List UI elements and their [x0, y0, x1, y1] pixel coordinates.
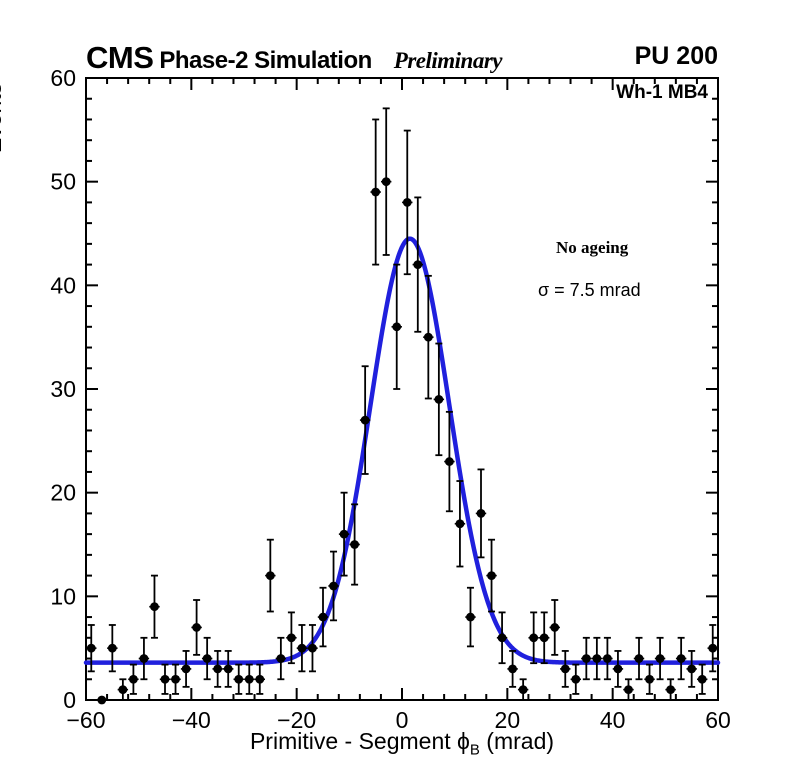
marker-dot: [213, 665, 222, 674]
data-point: [613, 651, 623, 687]
data-point: [476, 469, 486, 557]
marker-dot: [340, 530, 349, 539]
marker-dot: [487, 571, 496, 580]
marker-dot: [97, 696, 106, 705]
data-point: [160, 665, 170, 694]
marker-dot: [276, 654, 285, 663]
data-point: [507, 651, 517, 687]
marker-dot: [203, 654, 212, 663]
marker-dot: [118, 685, 127, 694]
marker-dot: [445, 457, 454, 466]
marker-dot: [287, 633, 296, 642]
y-tick-label: 10: [50, 583, 76, 609]
data-point: [581, 638, 591, 679]
marker-dot: [129, 675, 138, 684]
data-point: [497, 612, 507, 663]
data-point: [128, 665, 138, 694]
marker-dot: [424, 333, 433, 342]
data-point: [181, 651, 191, 687]
marker-dot: [456, 519, 465, 528]
x-tick-label: −40: [172, 707, 211, 733]
marker-dot: [529, 633, 538, 642]
data-point: [592, 638, 602, 679]
data-point: [465, 588, 475, 647]
marker-dot: [582, 654, 591, 663]
data-point: [297, 625, 307, 671]
marker-dot: [308, 644, 317, 653]
marker-dot: [182, 665, 191, 674]
data-point: [560, 651, 570, 687]
x-tick-label: 0: [396, 707, 409, 733]
data-point: [571, 665, 581, 694]
data-point: [528, 612, 538, 663]
plot-canvas: CMSPhase-2 SimulationPreliminary PU 200 …: [0, 0, 796, 772]
marker-dot: [171, 675, 180, 684]
data-point: [149, 576, 159, 638]
x-tick-label: 60: [705, 707, 731, 733]
data-point: [550, 600, 560, 655]
data-point: [381, 108, 391, 255]
axis-ticks: [86, 78, 718, 700]
plot-graphics: −60−40−2002040600102030405060: [0, 0, 796, 772]
marker-dot: [140, 654, 149, 663]
marker-dot: [434, 395, 443, 404]
marker-dot: [624, 685, 633, 694]
y-tick-label: 30: [50, 376, 76, 402]
marker-dot: [392, 322, 401, 331]
marker-dot: [592, 654, 601, 663]
gaussian-fit-line: [86, 239, 718, 663]
data-point: [539, 612, 549, 663]
data-point: [623, 679, 633, 700]
marker-dot: [540, 633, 549, 642]
marker-dot: [687, 665, 696, 674]
marker-dot: [108, 644, 117, 653]
data-points: [86, 108, 718, 704]
data-point: [602, 638, 612, 679]
marker-dot: [508, 665, 517, 674]
data-point: [686, 651, 696, 687]
frame-rect: [86, 78, 718, 700]
y-tick-label: 0: [63, 687, 76, 713]
y-tick-label: 20: [50, 480, 76, 506]
marker-dot: [298, 644, 307, 653]
marker-dot: [413, 260, 422, 269]
marker-dot: [656, 654, 665, 663]
data-point: [697, 665, 707, 694]
marker-dot: [466, 613, 475, 622]
plot-frame: [86, 78, 718, 700]
data-point: [276, 638, 286, 679]
data-point: [139, 638, 149, 679]
data-point: [212, 651, 222, 687]
marker-dot: [666, 685, 675, 694]
marker-dot: [708, 644, 717, 653]
y-tick-label: 60: [50, 65, 76, 91]
marker-dot: [361, 416, 370, 425]
data-point: [234, 665, 244, 694]
marker-dot: [371, 188, 380, 197]
marker-dot: [255, 675, 264, 684]
data-point: [255, 665, 265, 694]
data-point: [655, 638, 665, 679]
data-point: [223, 651, 233, 687]
marker-dot: [234, 675, 243, 684]
marker-dot: [477, 509, 486, 518]
data-point: [97, 696, 107, 705]
data-point: [191, 600, 201, 655]
marker-dot: [571, 675, 580, 684]
marker-dot: [150, 602, 159, 611]
data-point: [244, 665, 254, 694]
x-tick-label: 20: [495, 707, 521, 733]
marker-dot: [635, 654, 644, 663]
data-point: [413, 197, 423, 331]
data-point: [402, 131, 412, 275]
x-tick-label: 40: [600, 707, 626, 733]
data-point: [118, 679, 128, 700]
data-point: [202, 638, 212, 679]
marker-dot: [245, 675, 254, 684]
marker-dot: [403, 198, 412, 207]
marker-dot: [550, 623, 559, 632]
marker-dot: [645, 675, 654, 684]
marker-dot: [329, 582, 338, 591]
marker-dot: [192, 623, 201, 632]
data-point: [318, 588, 328, 647]
y-tick-label: 40: [50, 272, 76, 298]
marker-dot: [614, 665, 623, 674]
marker-dot: [161, 675, 170, 684]
marker-dot: [698, 675, 707, 684]
marker-dot: [382, 177, 391, 186]
marker-dot: [224, 665, 233, 674]
marker-dot: [603, 654, 612, 663]
marker-dot: [561, 665, 570, 674]
marker-dot: [498, 633, 507, 642]
data-point: [644, 665, 654, 694]
marker-dot: [266, 571, 275, 580]
data-point: [265, 540, 275, 612]
fit-curve: [86, 239, 718, 663]
data-point: [518, 679, 528, 700]
marker-dot: [319, 613, 328, 622]
marker-dot: [519, 685, 528, 694]
data-point: [634, 638, 644, 679]
marker-dot: [350, 540, 359, 549]
data-point: [307, 625, 317, 671]
data-point: [665, 679, 675, 700]
axis-tick-labels: −60−40−2002040600102030405060: [50, 65, 730, 733]
data-point: [370, 119, 380, 264]
x-tick-label: −20: [277, 707, 316, 733]
y-tick-label: 50: [50, 169, 76, 195]
data-point: [676, 638, 686, 679]
marker-dot: [677, 654, 686, 663]
marker-dot: [87, 644, 96, 653]
data-point: [170, 665, 180, 694]
